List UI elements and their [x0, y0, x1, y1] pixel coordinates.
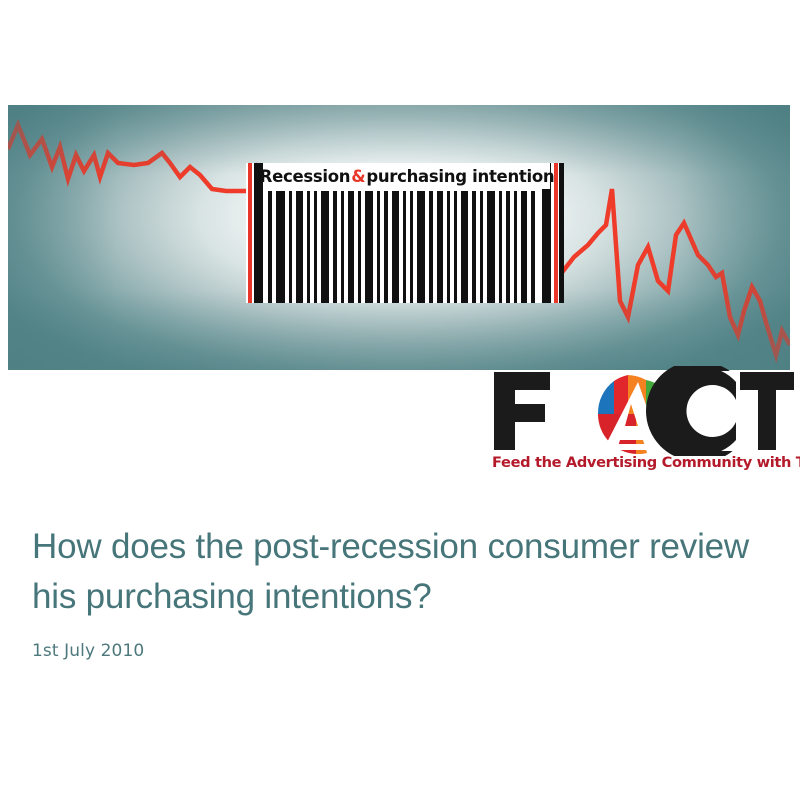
- title-block: How does the post-recession consumer rev…: [32, 522, 762, 661]
- fact-tagline: Feed the Advertising Community with Tren…: [492, 454, 794, 471]
- barcode-label-suffix: purchasing intention: [366, 167, 554, 186]
- logo-letter-f: [494, 372, 550, 450]
- barcode-label-ampersand: &: [350, 167, 366, 186]
- barcode-guard-left: [248, 163, 252, 303]
- page-date: 1st July 2010: [32, 641, 762, 661]
- barcode-label-prefix: Recession: [260, 167, 351, 186]
- line-series-left: [8, 125, 258, 191]
- barcode-label: Recession & purchasing intention: [264, 163, 550, 189]
- barcode-guard-right: [554, 163, 558, 303]
- fact-wordmark: [488, 366, 794, 456]
- line-series-right: [553, 189, 790, 355]
- logo-letter-t: [740, 372, 794, 450]
- page-title: How does the post-recession consumer rev…: [32, 522, 762, 621]
- recession-banner: Recession & purchasing intention: [8, 105, 790, 370]
- fact-logo: Feed the Advertising Community with Tren…: [488, 366, 794, 478]
- barcode-graphic: Recession & purchasing intention: [246, 163, 564, 303]
